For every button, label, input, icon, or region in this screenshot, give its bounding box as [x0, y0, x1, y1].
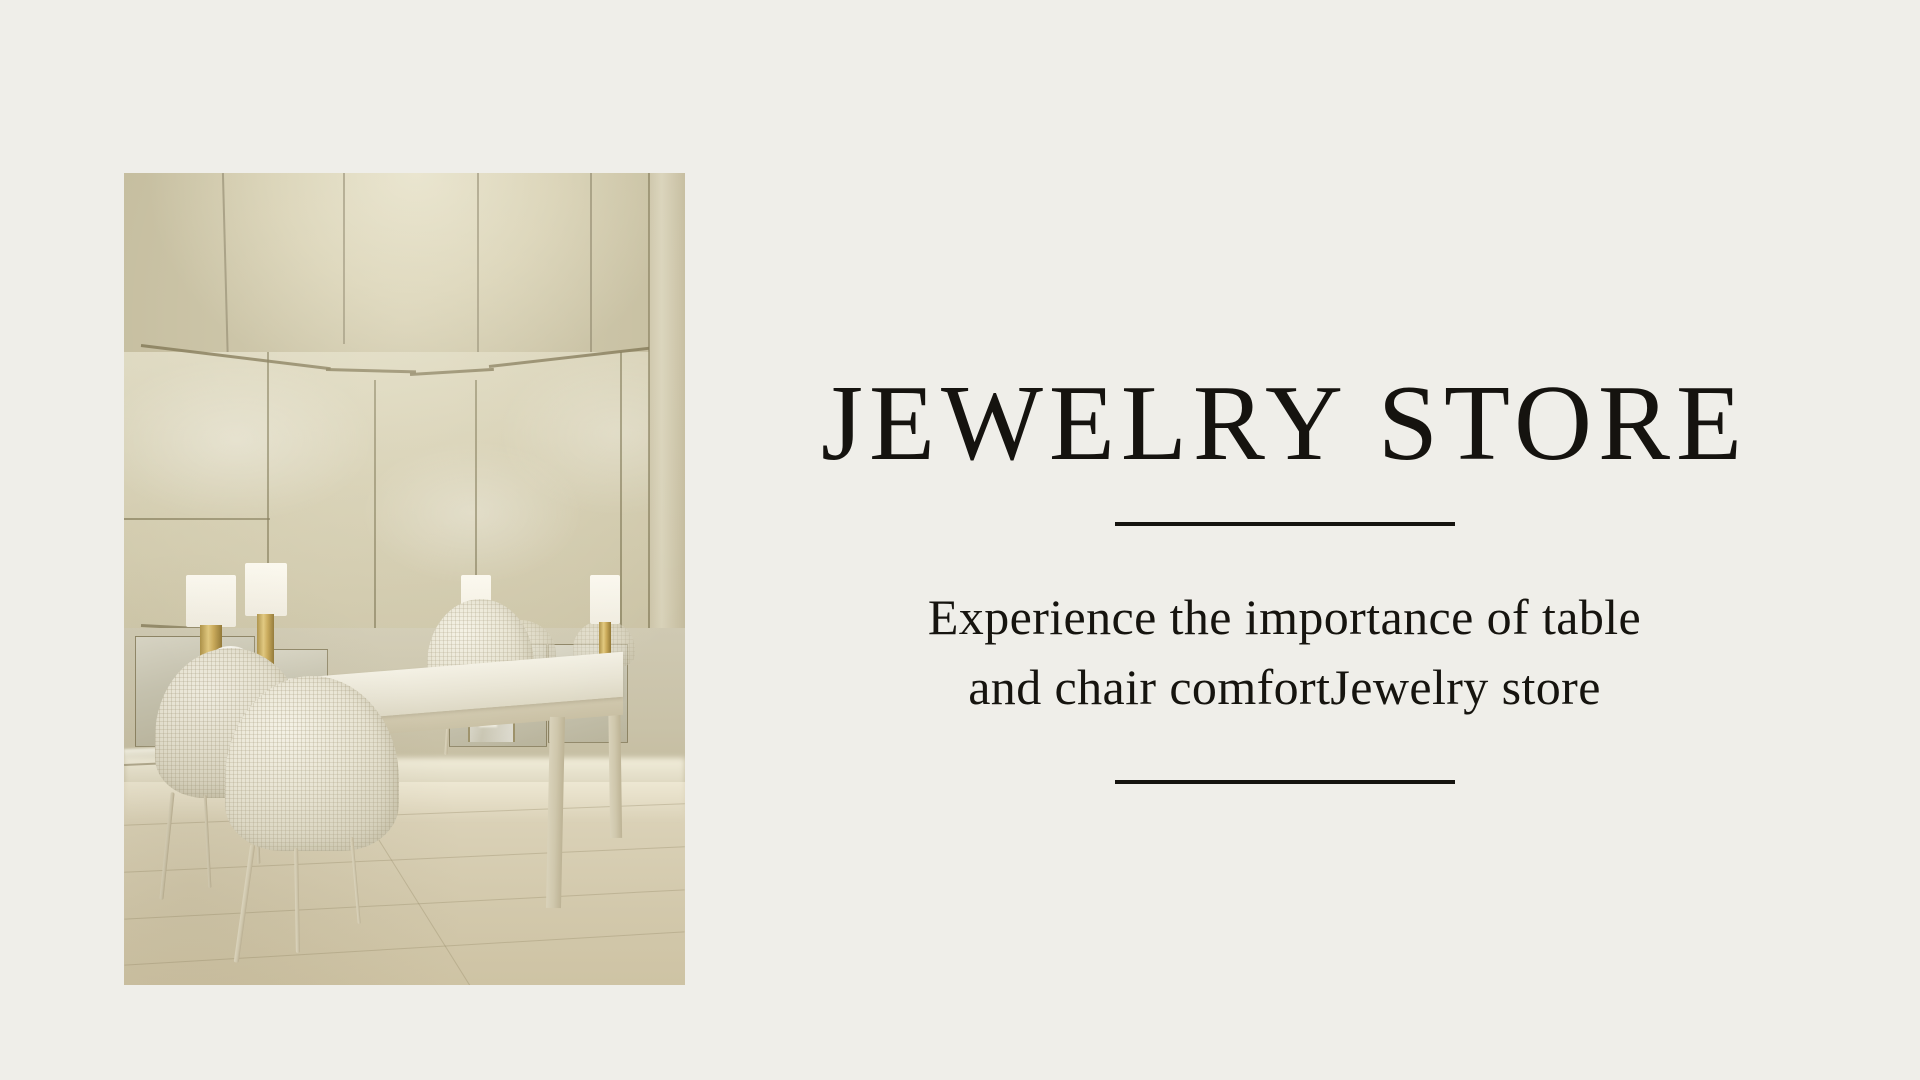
ceiling-seam — [477, 173, 479, 360]
divider-rule-bottom — [1115, 780, 1455, 784]
divider-rule-top — [1115, 522, 1455, 526]
lamp-shade — [590, 575, 621, 624]
lamp-shade — [245, 563, 287, 617]
wall-panel-seam — [124, 518, 270, 520]
ceiling-seam — [343, 173, 345, 344]
lamp-shade — [186, 575, 236, 627]
wall-panel-seam — [374, 380, 376, 640]
subheading: Experience the importance of table and c… — [855, 582, 1715, 722]
page-title: JEWELRY STORE — [685, 370, 1884, 478]
armchair-front — [225, 676, 399, 851]
wall-panel-seam — [620, 352, 622, 644]
subheading-line-2: and chair comfortJewelry store — [855, 652, 1715, 722]
photo-artwork — [124, 173, 685, 985]
jewelry-store-interior-photo — [124, 173, 685, 985]
subheading-line-1: Experience the importance of table — [855, 582, 1715, 652]
text-stack: JEWELRY STORE Experience the importance … — [685, 370, 1884, 784]
text-column: JEWELRY STORE Experience the importance … — [685, 0, 1884, 1080]
armchair-back — [225, 676, 399, 851]
slide-canvas: JEWELRY STORE Experience the importance … — [0, 0, 1920, 1080]
